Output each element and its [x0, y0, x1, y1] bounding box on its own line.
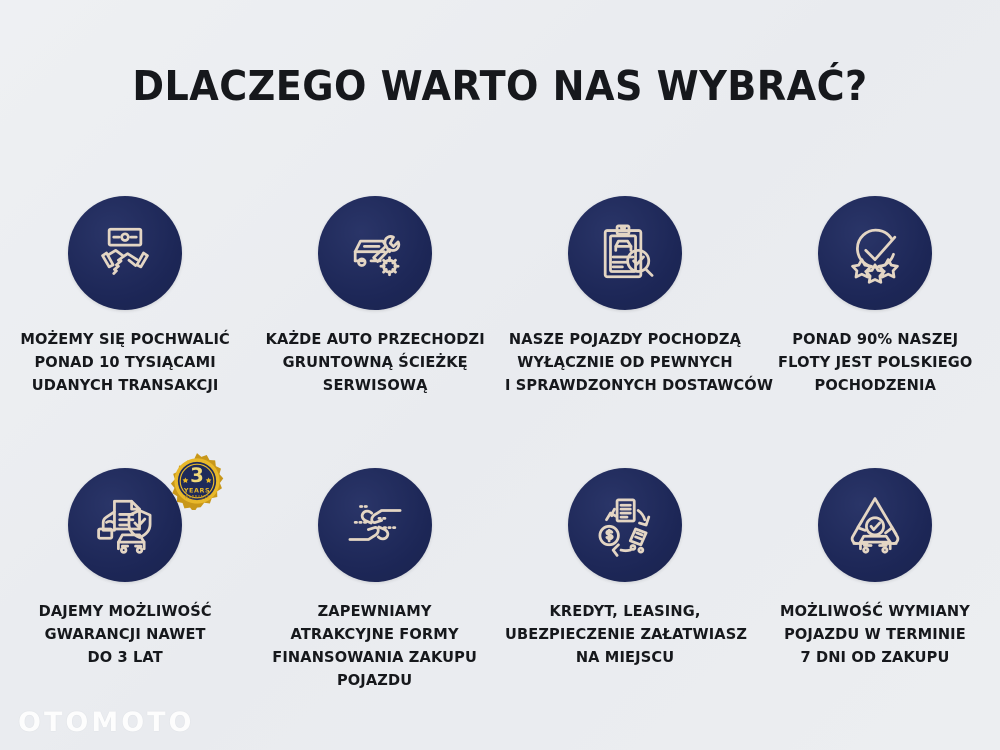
hands-money-car-exchange-icon [342, 492, 408, 558]
svg-text:3: 3 [190, 464, 204, 487]
caption-line: KAŻDE AUTO PRZECHODZI [265, 328, 484, 351]
icon-holder [818, 196, 932, 310]
caption-line: DAJEMY MOŻLIWOŚĆ [38, 600, 211, 623]
icon-circle [818, 468, 932, 582]
caption-line: UBEZPIECZENIE ZAŁATWIASZ [505, 623, 745, 646]
page-title: DLACZEGO WARTO NAS WYBRAĆ? [35, 62, 965, 110]
feature-caption: KREDYT, LEASING, UBEZPIECZENIE ZAŁATWIAS… [505, 600, 745, 669]
caption-line: PONAD 90% NASZEJ [778, 328, 972, 351]
caption-line: POJAZDU [273, 669, 478, 692]
caption-line: DO 3 LAT [38, 646, 211, 669]
svg-text:YEARS: YEARS [183, 487, 210, 495]
feature-caption: DAJEMY MOŻLIWOŚĆ GWARANCJI NAWET DO 3 LA… [38, 600, 211, 669]
icon-circle [318, 468, 432, 582]
car-exchange-recycle-check-icon [842, 492, 908, 558]
warranty-3-years-badge: 3 YEARS WARRANTY [168, 452, 226, 510]
feature-item-service: KAŻDE AUTO PRZECHODZI GRUNTOWNĄ ŚCIEŻKĘ … [250, 196, 500, 468]
caption-line: WYŁĄCZNIE OD PEWNYCH [505, 351, 745, 374]
caption-line: SERWISOWĄ [265, 374, 484, 397]
caption-line: ATRAKCYJNE FORMY [273, 623, 478, 646]
feature-caption: MOŻLIWOŚĆ WYMIANY POJAZDU W TERMINIE 7 D… [780, 600, 970, 669]
icon-holder [568, 196, 682, 310]
icon-circle [68, 196, 182, 310]
feature-item-credit-leasing: KREDYT, LEASING, UBEZPIECZENIE ZAŁATWIAS… [500, 468, 750, 740]
feature-item-suppliers: NASZE POJAZDY POCHODZĄ WYŁĄCZNIE OD PEWN… [500, 196, 750, 468]
caption-line: NA MIEJSCU [505, 646, 745, 669]
caption-line: PONAD 10 TYSIĄCAMI [20, 351, 230, 374]
page-title-container: DLACZEGO WARTO NAS WYBRAĆ? [0, 62, 1000, 110]
feature-item-polish-fleet: PONAD 90% NASZEJ FLOTY JEST POLSKIEGO PO… [750, 196, 1000, 468]
icon-circle [68, 468, 182, 582]
icon-holder [318, 468, 432, 582]
feature-item-transactions: MOŻEMY SIĘ POCHWALIĆ PONAD 10 TYSIĄCAMI … [0, 196, 250, 468]
caption-line: GRUNTOWNĄ ŚCIEŻKĘ [265, 351, 484, 374]
caption-line: MOŻLIWOŚĆ WYMIANY [780, 600, 970, 623]
warranty-document-shield-car-icon [92, 492, 158, 558]
financing-cycle-document-cart-coin-icon [592, 492, 658, 558]
feature-item-warranty: 3 YEARS WARRANTY DAJEMY MOŻLIWOŚĆ GWARAN… [0, 468, 250, 740]
feature-item-exchange: MOŻLIWOŚĆ WYMIANY POJAZDU W TERMINIE 7 D… [750, 468, 1000, 740]
clipboard-car-magnifier-check-icon [592, 220, 658, 286]
caption-line: MOŻEMY SIĘ POCHWALIĆ [20, 328, 230, 351]
feature-caption: MOŻEMY SIĘ POCHWALIĆ PONAD 10 TYSIĄCAMI … [20, 328, 230, 397]
badge-starburst: 3 YEARS WARRANTY [171, 453, 223, 510]
icon-holder [818, 468, 932, 582]
car-service-wrench-gear-icon [342, 220, 408, 286]
icon-circle [818, 196, 932, 310]
icon-circle [568, 196, 682, 310]
caption-line: I SPRAWDZONYCH DOSTAWCÓW [505, 374, 745, 397]
feature-grid: MOŻEMY SIĘ POCHWALIĆ PONAD 10 TYSIĄCAMI … [0, 196, 1000, 740]
caption-line: POJAZDU W TERMINIE [780, 623, 970, 646]
handshake-money-icon [92, 220, 158, 286]
icon-holder [318, 196, 432, 310]
feature-caption: PONAD 90% NASZEJ FLOTY JEST POLSKIEGO PO… [778, 328, 972, 397]
feature-caption: KAŻDE AUTO PRZECHODZI GRUNTOWNĄ ŚCIEŻKĘ … [265, 328, 484, 397]
icon-circle [568, 468, 682, 582]
check-stars-quality-icon [842, 220, 908, 286]
caption-line: NASZE POJAZDY POCHODZĄ [505, 328, 745, 351]
caption-line: UDANYCH TRANSAKCJI [20, 374, 230, 397]
caption-line: FLOTY JEST POLSKIEGO [778, 351, 972, 374]
svg-text:WARRANTY: WARRANTY [184, 494, 209, 499]
otomoto-watermark-logo: OTOMOTO [18, 707, 195, 738]
feature-caption: NASZE POJAZDY POCHODZĄ WYŁĄCZNIE OD PEWN… [505, 328, 745, 397]
caption-line: POCHODZENIA [778, 374, 972, 397]
promo-banner: DLACZEGO WARTO NAS WYBRAĆ? [0, 0, 1000, 750]
caption-line: 7 DNI OD ZAKUPU [780, 646, 970, 669]
caption-line: KREDYT, LEASING, [505, 600, 745, 623]
icon-holder: 3 YEARS WARRANTY [68, 468, 182, 582]
caption-line: FINANSOWANIA ZAKUPU [273, 646, 478, 669]
icon-holder [568, 468, 682, 582]
feature-item-financing: ZAPEWNIAMY ATRAKCYJNE FORMY FINANSOWANIA… [250, 468, 500, 740]
caption-line: ZAPEWNIAMY [273, 600, 478, 623]
icon-circle [318, 196, 432, 310]
icon-holder [68, 196, 182, 310]
caption-line: GWARANCJI NAWET [38, 623, 211, 646]
feature-caption: ZAPEWNIAMY ATRAKCYJNE FORMY FINANSOWANIA… [273, 600, 478, 692]
